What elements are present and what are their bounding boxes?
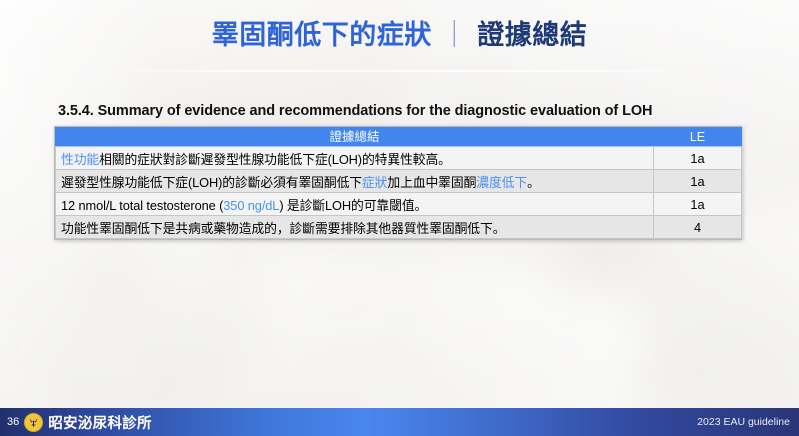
slide-title-separator: ｜ <box>441 20 469 50</box>
statement-text: 遲發型性腺功能低下症(LOH)的診斷必須有睪固酮低下 <box>61 175 362 190</box>
section-subtitle: 3.5.4. Summary of evidence and recommend… <box>58 103 652 119</box>
slide-title-sub: 證據總結 <box>477 20 587 50</box>
statement-text: 12 nmol/L total testosterone ( <box>61 198 223 213</box>
cell-level-of-evidence: 4 <box>654 216 742 239</box>
statement-text: 相關的症狀對診斷遲發型性腺功能低下症(LOH)的特異性較高。 <box>99 152 451 167</box>
clinic-name: 昭安泌尿科診所 <box>48 412 152 433</box>
statement-highlight: 350 ng/dL <box>223 198 279 213</box>
evidence-table: 證據總結 LE 性功能相關的症狀對診斷遲發型性腺功能低下症(LOH)的特異性較高… <box>55 127 742 239</box>
evidence-table-container: 證據總結 LE 性功能相關的症狀對診斷遲發型性腺功能低下症(LOH)的特異性較高… <box>54 126 742 240</box>
cell-statement: 功能性睪固酮低下是共病或藥物造成的，診斷需要排除其他器質性睪固酮低下。 <box>56 216 654 239</box>
statement-highlight: 性功能 <box>61 152 99 167</box>
statement-text: 加上血中睪固酮 <box>387 175 476 190</box>
cell-level-of-evidence: 1a <box>654 147 742 170</box>
page-number: 36 <box>7 417 19 428</box>
cell-level-of-evidence: 1a <box>654 193 742 216</box>
cell-level-of-evidence: 1a <box>654 170 742 193</box>
slide-footer: 36 昭安泌尿科診所 2023 EAU guideline <box>0 408 799 436</box>
table-row: 功能性睪固酮低下是共病或藥物造成的，診斷需要排除其他器質性睪固酮低下。4 <box>56 216 742 239</box>
slide-title: 睪固酮低下的症狀｜證據總結 <box>212 20 588 50</box>
table-header: 證據總結 LE <box>56 128 742 147</box>
statement-text: 。 <box>527 175 540 190</box>
column-header-statement: 證據總結 <box>56 128 654 147</box>
table-row: 性功能相關的症狀對診斷遲發型性腺功能低下症(LOH)的特異性較高。1a <box>56 147 742 170</box>
cell-statement: 性功能相關的症狀對診斷遲發型性腺功能低下症(LOH)的特異性較高。 <box>56 147 654 170</box>
table-row: 遲發型性腺功能低下症(LOH)的診斷必須有睪固酮低下症狀加上血中睪固酮濃度低下。… <box>56 170 742 193</box>
cell-statement: 12 nmol/L total testosterone (350 ng/dL)… <box>56 193 654 216</box>
table-row: 12 nmol/L total testosterone (350 ng/dL)… <box>56 193 742 216</box>
statement-text: 功能性睪固酮低下是共病或藥物造成的，診斷需要排除其他器質性睪固酮低下。 <box>61 221 505 236</box>
slide-title-container: 睪固酮低下的症狀｜證據總結 <box>0 22 799 49</box>
title-divider <box>110 70 690 72</box>
statement-highlight: 濃度低下 <box>476 175 527 190</box>
statement-highlight: 症狀 <box>362 175 387 190</box>
cell-statement: 遲發型性腺功能低下症(LOH)的診斷必須有睪固酮低下症狀加上血中睪固酮濃度低下。 <box>56 170 654 193</box>
presentation-slide: 睪固酮低下的症狀｜證據總結 3.5.4. Summary of evidence… <box>0 0 799 436</box>
slide-title-main: 睪固酮低下的症狀 <box>212 20 432 50</box>
column-header-le: LE <box>654 128 742 147</box>
footer-left-group: 36 昭安泌尿科診所 <box>0 412 152 433</box>
table-body: 性功能相關的症狀對診斷遲發型性腺功能低下症(LOH)的特異性較高。1a遲發型性腺… <box>56 147 742 239</box>
statement-text: ) 是診斷LOH的可靠閾值。 <box>279 198 427 213</box>
clinic-crest-icon <box>24 413 43 432</box>
table-header-row: 證據總結 LE <box>56 128 742 147</box>
footer-source: 2023 EAU guideline <box>697 416 799 428</box>
